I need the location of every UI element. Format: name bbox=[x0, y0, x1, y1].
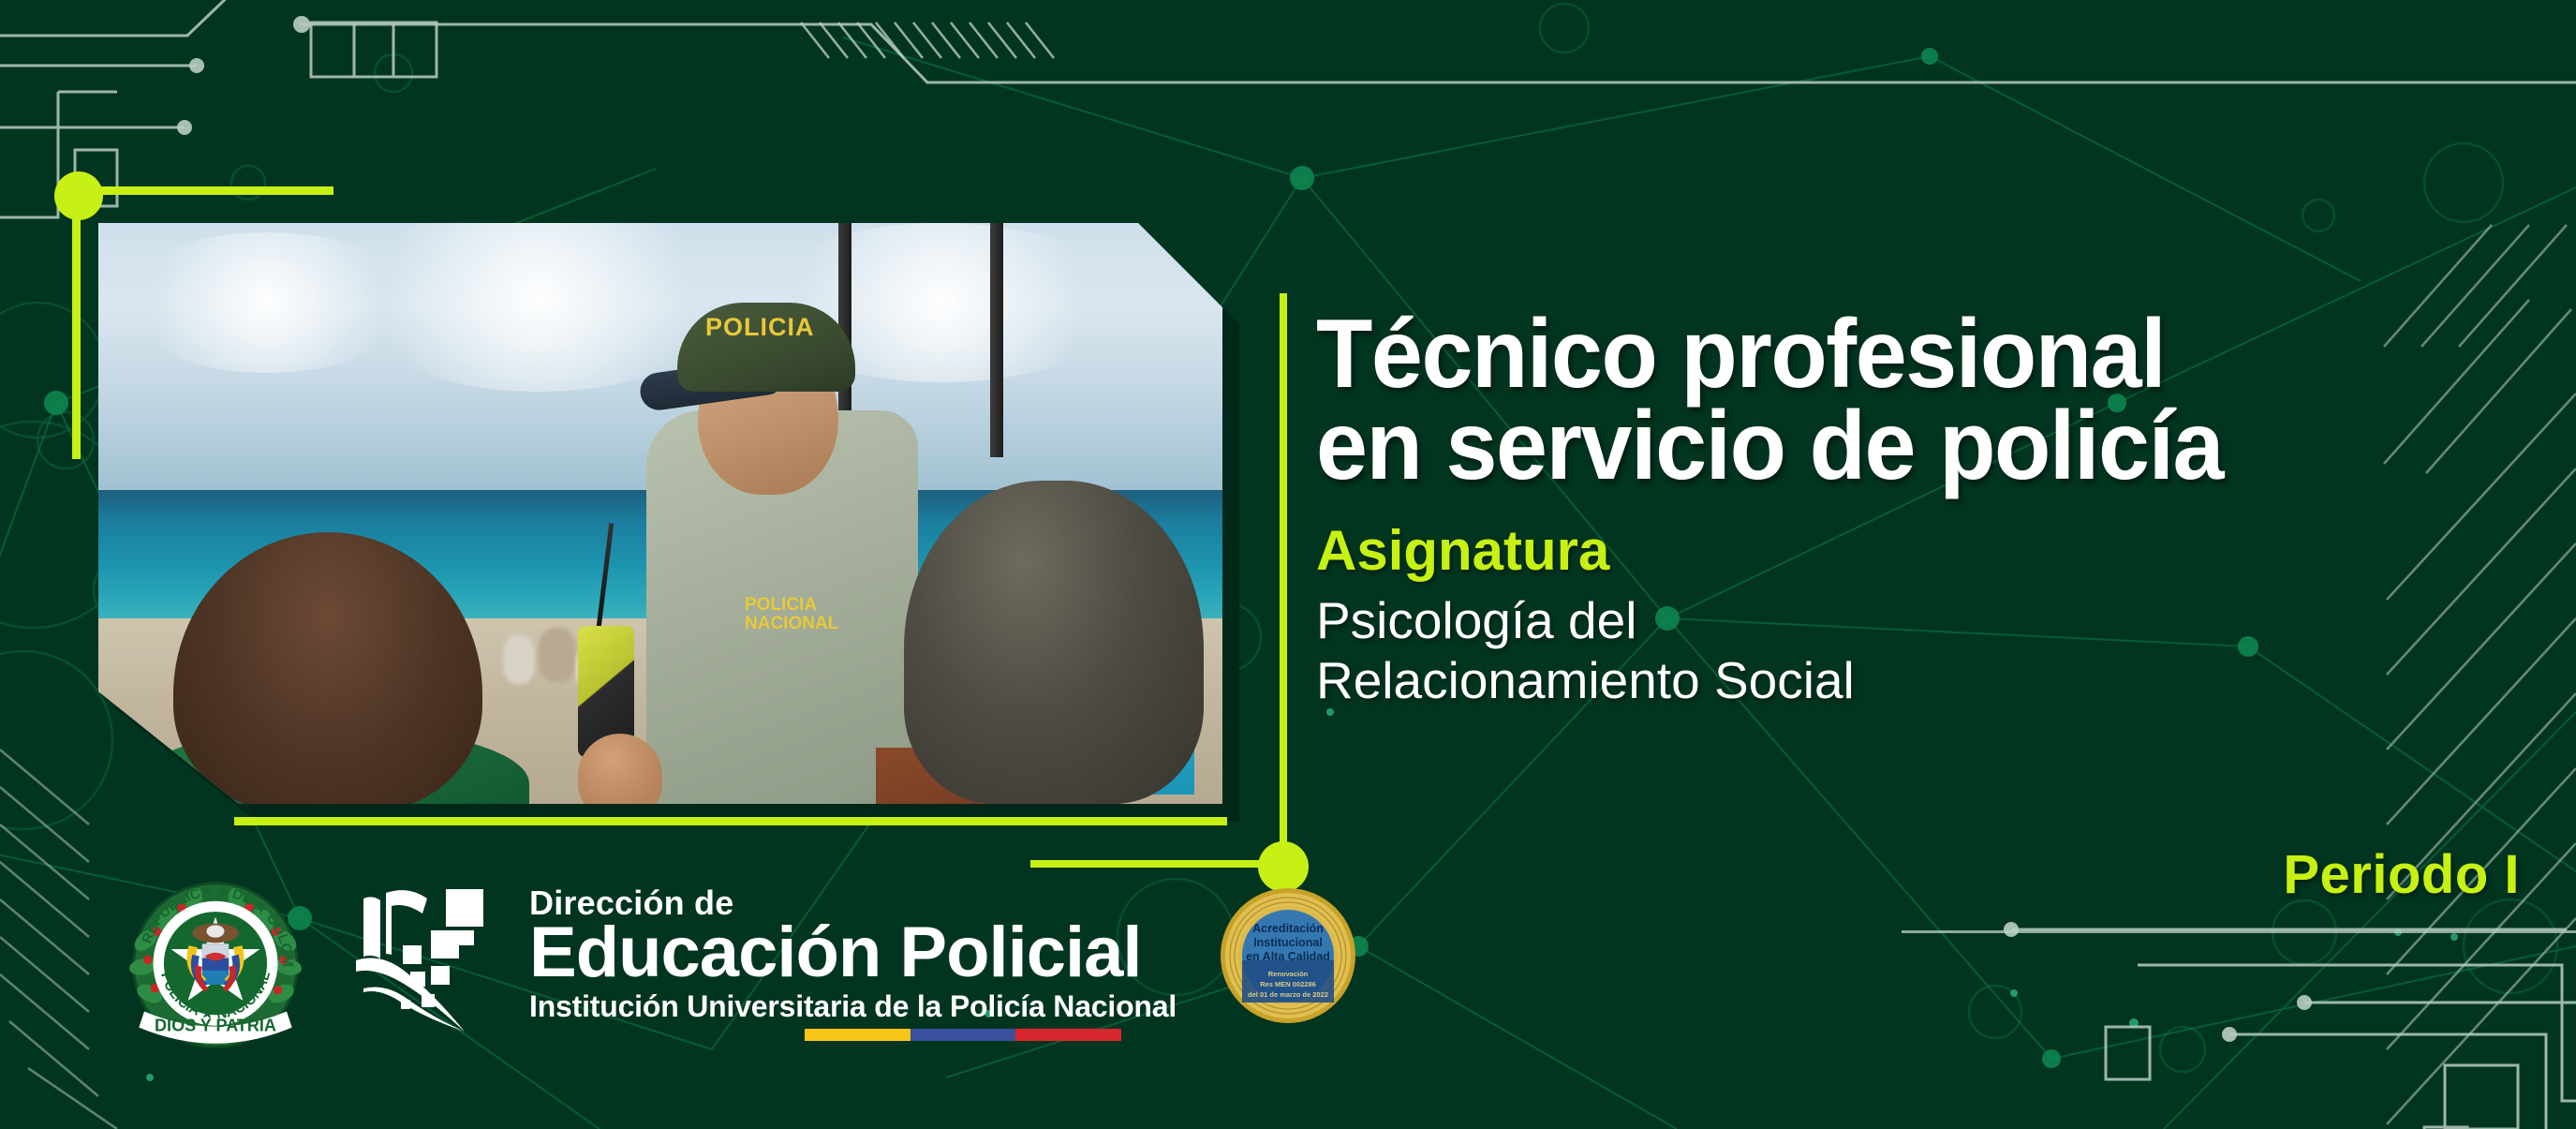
seal-line-3: en Alta Calidad bbox=[1246, 950, 1330, 963]
banner-root: POLICIA NACIONAL POLICIA Técnico p bbox=[0, 0, 2576, 1129]
photo-underline-accent bbox=[234, 817, 1227, 825]
photo-vertical-accent bbox=[1280, 293, 1287, 859]
photo-statue bbox=[904, 481, 1204, 804]
flag-blue bbox=[910, 1029, 1016, 1041]
seal-sub-2: Res MEN 002286 bbox=[1260, 980, 1316, 988]
colombia-flag-bar bbox=[805, 1029, 1121, 1041]
department-line-3: Institución Universitaria de la Policía … bbox=[529, 989, 1241, 1024]
title-line-2: en servicio de policía bbox=[1316, 401, 2465, 493]
period-label: Periodo I bbox=[2283, 843, 2520, 906]
seal-sub-1: Renovación bbox=[1268, 970, 1309, 978]
department-text-block: Dirección de Educación Policial Instituc… bbox=[529, 884, 1241, 1041]
flag-yellow bbox=[805, 1029, 910, 1041]
page-title: Técnico profesional en servicio de polic… bbox=[1316, 309, 2465, 493]
subject-name: Psicología del Relacionamiento Social bbox=[1316, 590, 2524, 712]
photo-cap-text: POLICIA bbox=[705, 313, 846, 342]
department-line-2: Educación Policial bbox=[529, 919, 1241, 988]
seal-sub-3: del 01 de marzo de 2022 bbox=[1248, 990, 1328, 999]
photo-uniform-patch: POLICIA NACIONAL bbox=[745, 596, 866, 633]
lime-accent-horizontal-line bbox=[90, 186, 333, 195]
hero-photo: POLICIA NACIONAL POLICIA bbox=[98, 223, 1222, 804]
photo-beachgoer bbox=[539, 628, 576, 682]
subject-label: Asignatura bbox=[1316, 523, 2524, 579]
lime-accent-vertical-line bbox=[72, 197, 81, 459]
photo-beachgoer bbox=[503, 635, 535, 684]
photo-frame: POLICIA NACIONAL POLICIA bbox=[98, 223, 1222, 804]
period-rule bbox=[1902, 930, 2576, 933]
seal-line-2: Institucional bbox=[1253, 936, 1323, 949]
title-line-1: Técnico profesional bbox=[1316, 309, 2465, 401]
sello-acreditacion-icon: Acreditación Institucional en Alta Calid… bbox=[1218, 885, 1358, 1026]
escudo-policia-nacional-icon: DIOS Y PATRIA REPUBLICA ★ DE ★ COLOMBIA … bbox=[126, 878, 304, 1056]
libro-pixelado-icon bbox=[348, 887, 517, 1032]
seal-line-1: Acreditación bbox=[1252, 922, 1324, 935]
flag-red bbox=[1015, 1029, 1121, 1041]
footer-logos: DIOS Y PATRIA REPUBLICA ★ DE ★ COLOMBIA … bbox=[0, 867, 1386, 1073]
photo-pole bbox=[990, 223, 1003, 457]
text-column: Técnico profesional en servicio de polic… bbox=[1316, 309, 2524, 711]
